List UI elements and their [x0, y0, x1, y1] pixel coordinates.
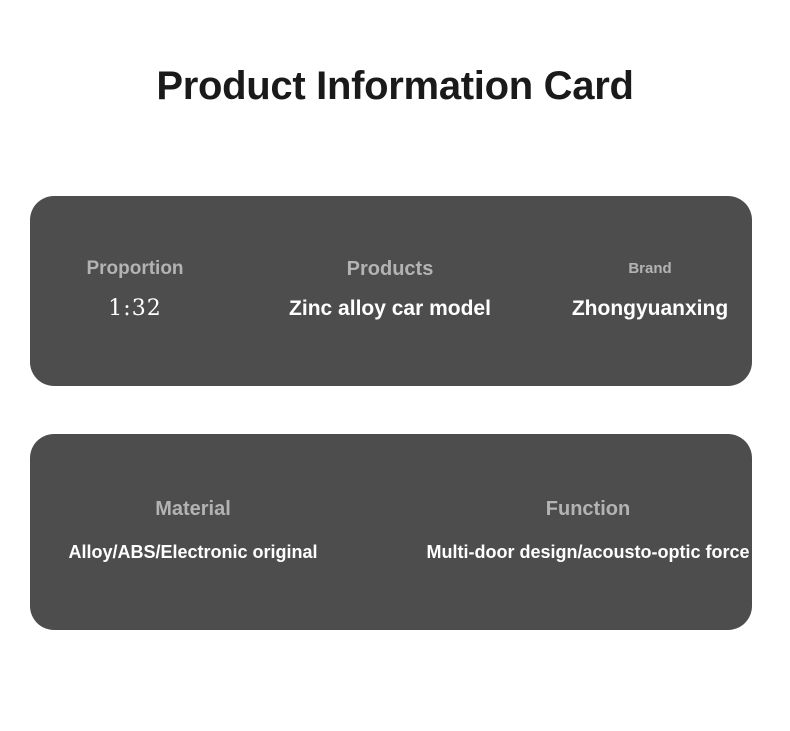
value-proportion: 1:32 — [108, 296, 161, 321]
product-information-card-page: Product Information Card Proportion 1:32… — [0, 0, 790, 731]
field-value-function: Multi-door design/acousto-optic force — [427, 539, 750, 565]
field-label-material: Material — [155, 498, 231, 520]
value-function: Multi-door design/acousto-optic force — [427, 542, 750, 562]
field-value-products: Zinc alloy car model — [289, 296, 491, 322]
field-label-brand: Brand — [628, 258, 671, 280]
value-material: Alloy/ABS/Electronic original — [68, 542, 317, 562]
label-products: Products — [347, 258, 434, 280]
label-function: Function — [546, 498, 630, 520]
field-label-function: Function — [546, 498, 630, 520]
label-material: Material — [155, 498, 231, 520]
spec-card-secondary: Material Alloy/ABS/Electronic original F… — [30, 434, 752, 630]
field-label-products: Products — [347, 258, 434, 280]
field-label-proportion: Proportion — [86, 258, 183, 280]
spec-card-primary: Proportion 1:32 Products Zinc alloy car … — [30, 196, 752, 386]
label-proportion: Proportion — [86, 258, 183, 279]
field-value-material: Alloy/ABS/Electronic original — [68, 539, 317, 565]
page-title: Product Information Card — [0, 62, 790, 110]
field-value-proportion: 1:32 — [108, 296, 161, 322]
value-products: Zinc alloy car model — [289, 297, 491, 320]
field-value-brand: Zhongyuanxing — [572, 296, 728, 322]
value-brand: Zhongyuanxing — [572, 297, 728, 320]
label-brand: Brand — [628, 260, 671, 277]
